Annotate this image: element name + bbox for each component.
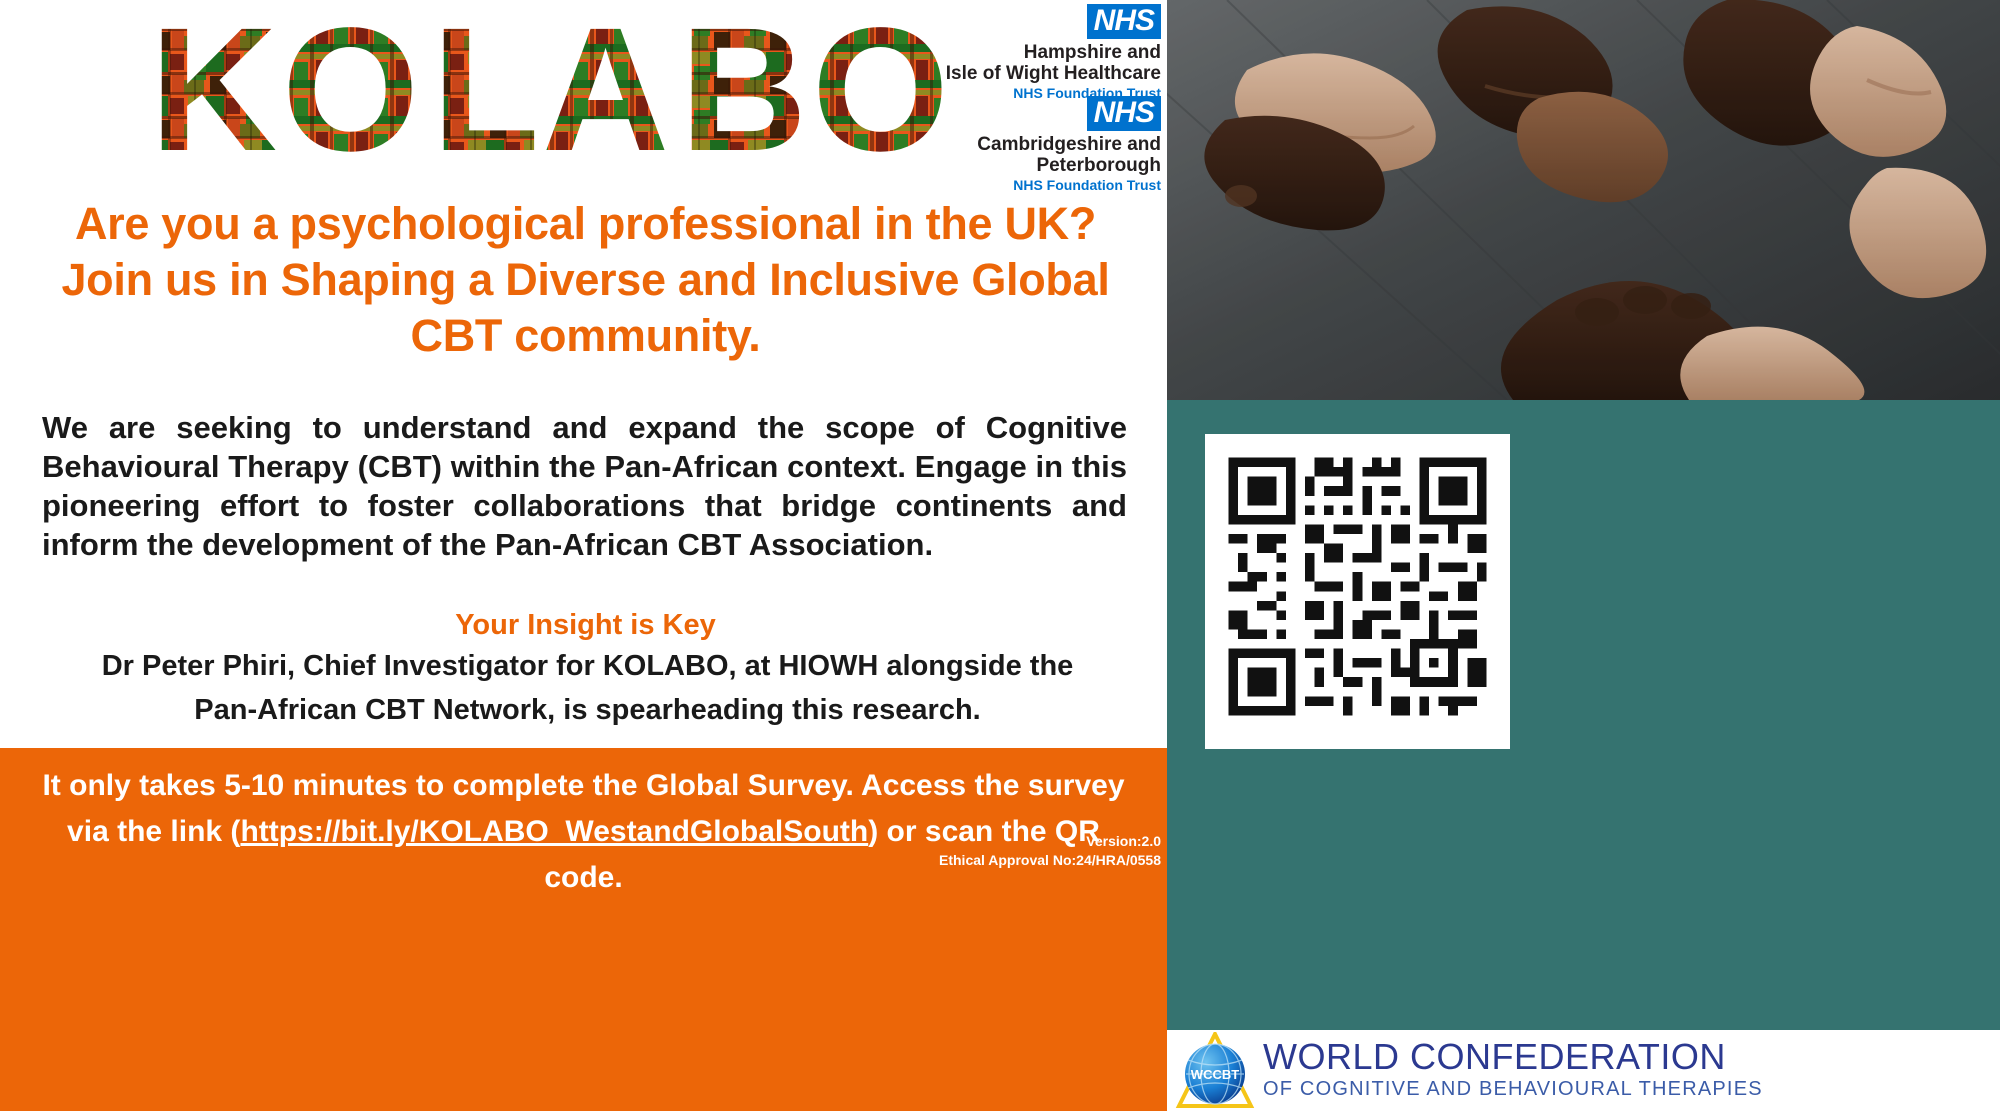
- insight-line-1: Dr Peter Phiri, Chief Investigator for K…: [60, 644, 1115, 688]
- insight-body: Dr Peter Phiri, Chief Investigator for K…: [60, 644, 1115, 732]
- wccbt-globe-icon: WCCBT: [1175, 1032, 1255, 1110]
- svg-text:K: K: [150, 8, 291, 178]
- wccbt-title-line-2: OF COGNITIVE AND BEHAVIOURAL THERAPIES: [1263, 1077, 1763, 1101]
- svg-text:A: A: [542, 8, 683, 178]
- headline-line-3: CBT community.: [18, 308, 1153, 364]
- approval-info: Version:2.0 Ethical Approval No:24/HRA/0…: [701, 832, 1161, 870]
- headline-line-1: Are you a psychological professional in …: [18, 196, 1153, 252]
- wccbt-logo: WCCBT WORLD CONFEDERATION OF COGNITIVE A…: [1167, 1030, 2000, 1111]
- ethical-approval-label: Ethical Approval No:24/HRA/0558: [701, 851, 1161, 870]
- svg-text:WCCBT: WCCBT: [1191, 1067, 1239, 1082]
- qr-code-card[interactable]: [1205, 434, 1510, 749]
- nhs-badge-icon: NHS: [1087, 96, 1161, 131]
- insight-line-2: Pan-African CBT Network, is spearheading…: [60, 688, 1115, 732]
- svg-text:O: O: [812, 8, 963, 178]
- nhs-trust-name: Hampshire and Isle of Wight Healthcare: [946, 42, 1161, 84]
- svg-text:B: B: [680, 8, 821, 178]
- nhs-foundation-trust-label: NHS Foundation Trust: [977, 177, 1161, 193]
- wccbt-title-line-1: WORLD CONFEDERATION: [1263, 1038, 1763, 1076]
- nhs-trust-name: Cambridgeshire and Peterborough: [977, 134, 1161, 176]
- nhs-logo-hampshire: NHS Hampshire and Isle of Wight Healthca…: [946, 4, 1161, 101]
- version-label: Version:2.0: [701, 832, 1161, 851]
- svg-text:O: O: [282, 8, 433, 178]
- headline: Are you a psychological professional in …: [18, 196, 1153, 364]
- svg-text:L: L: [432, 8, 554, 178]
- left-content-column: K O L A B O NHS Hampshire and Isle of Wi…: [0, 0, 1167, 1111]
- nhs-logo-cambridgeshire: NHS Cambridgeshire and Peterborough NHS …: [977, 96, 1161, 193]
- poster-canvas: K O L A B O NHS Hampshire and Isle of Wi…: [0, 0, 2000, 1111]
- insight-heading: Your Insight is Key: [18, 608, 1153, 642]
- diverse-hands-photo: [1167, 0, 2000, 400]
- wccbt-wordmark: WORLD CONFEDERATION OF COGNITIVE AND BEH…: [1263, 1038, 1763, 1101]
- qr-panel: [1167, 400, 2000, 1030]
- headline-line-2: Join us in Shaping a Diverse and Inclusi…: [18, 252, 1153, 308]
- cta-banner: It only takes 5-10 minutes to complete t…: [0, 748, 1167, 1111]
- body-paragraph: We are seeking to understand and expand …: [42, 408, 1127, 564]
- kolabo-wordmark: K O L A B O: [150, 8, 1030, 178]
- right-media-column: WCCBT WORLD CONFEDERATION OF COGNITIVE A…: [1167, 0, 2000, 1111]
- nhs-badge-icon: NHS: [1087, 4, 1161, 39]
